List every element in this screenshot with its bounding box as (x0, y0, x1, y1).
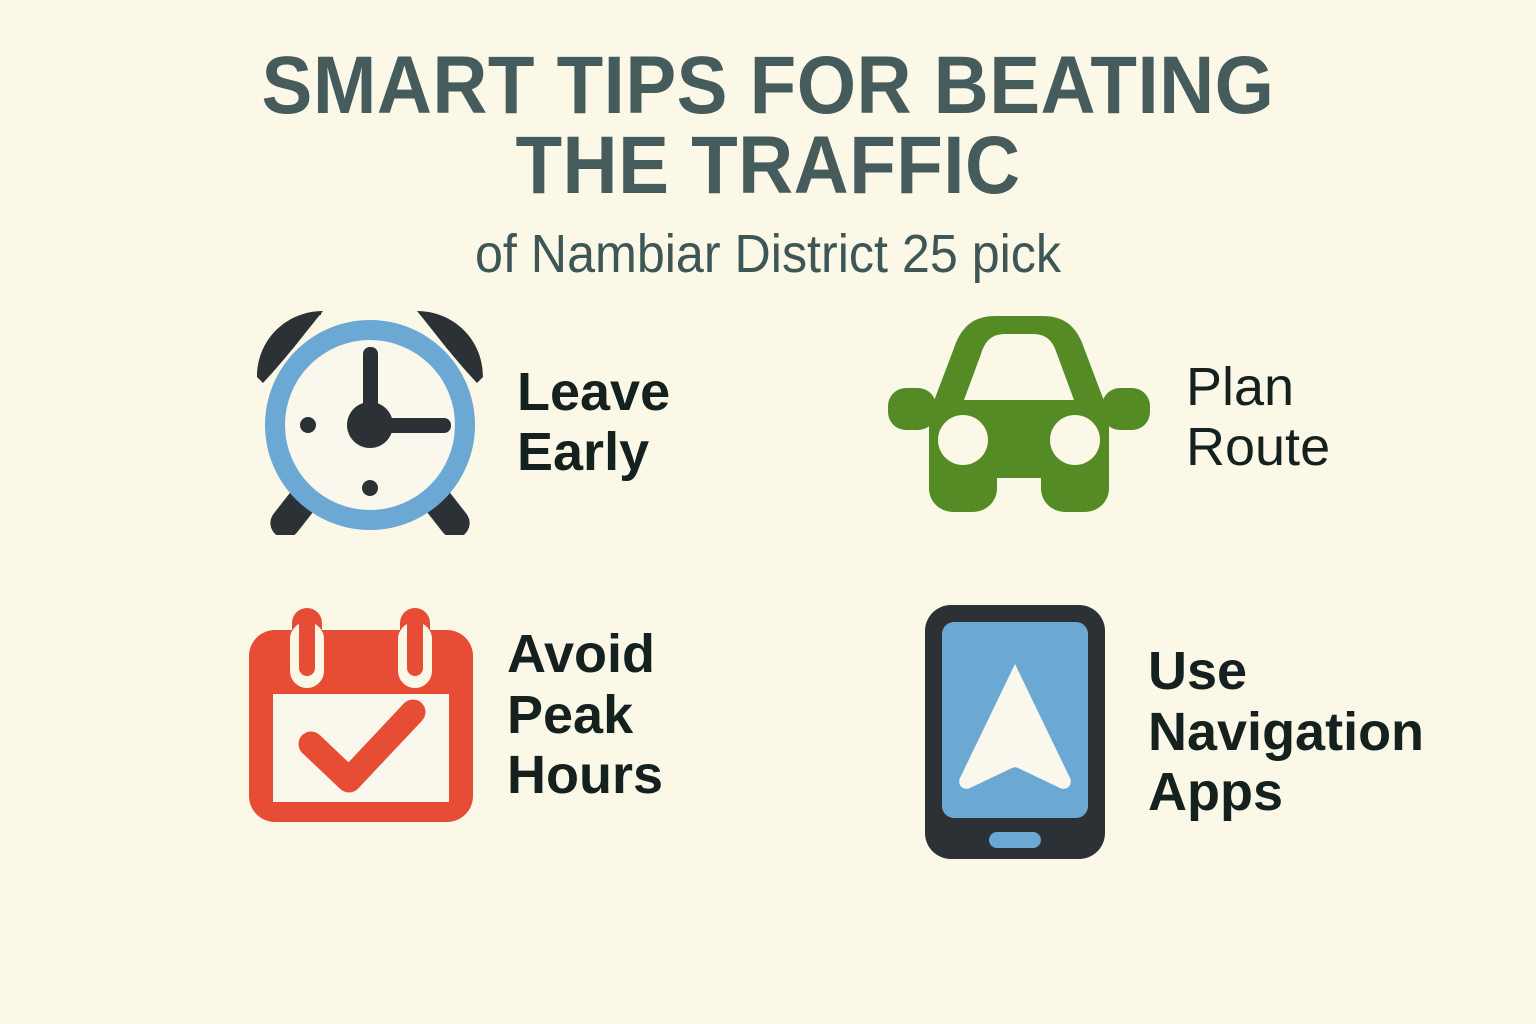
tip-label-avoid-peak-hours: Avoid Peak Hours (507, 624, 663, 805)
tip-label-use-navigation-apps: Use Navigation Apps (1148, 641, 1424, 822)
tip-label-leave-early: Leave Early (517, 362, 670, 483)
tip-item-avoid-peak-hours: Avoid Peak Hours (245, 600, 663, 826)
phone-navigation-icon (922, 600, 1108, 862)
page-subtitle: of Nambiar District 25 pick (54, 227, 1482, 281)
alarm-clock-icon (245, 305, 495, 535)
tip-item-use-navigation-apps: Use Navigation Apps (922, 600, 1424, 862)
page-title-line-2: THE TRAFFIC (54, 126, 1482, 206)
tip-item-plan-route: Plan Route (888, 310, 1330, 530)
calendar-check-icon (245, 600, 477, 826)
page-title: SMART TIPS FOR BEATING THE TRAFFIC (54, 46, 1482, 205)
car-icon (888, 310, 1150, 530)
infographic-poster: SMART TIPS FOR BEATING THE TRAFFIC of Na… (0, 0, 1536, 1024)
tip-item-leave-early: Leave Early (245, 305, 670, 535)
header: SMART TIPS FOR BEATING THE TRAFFIC of Na… (0, 46, 1536, 281)
page-title-line-1: SMART TIPS FOR BEATING (54, 46, 1482, 126)
tip-label-plan-route: Plan Route (1186, 357, 1330, 478)
